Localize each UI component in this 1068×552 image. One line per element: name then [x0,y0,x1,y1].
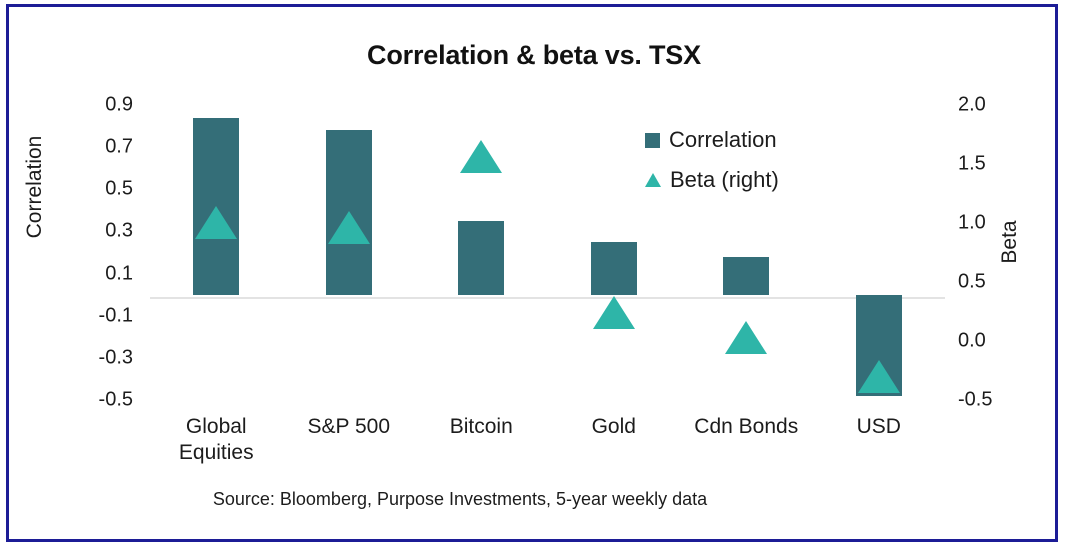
category-label-line: S&P 500 [284,414,414,440]
right-axis-title: Beta [998,192,1022,292]
legend-square-icon [645,133,660,148]
beta-marker-triangle [195,206,237,239]
source-note: Source: Bloomberg, Purpose Investments, … [0,489,920,510]
left-tick-label: -0.5 [63,389,133,412]
correlation-bar [458,221,504,295]
category-label-line: Gold [549,414,679,440]
left-axis-tick-labels: 0.90.70.50.30.1-0.1-0.3-0.5 [48,105,133,400]
category-label-line: Bitcoin [416,414,546,440]
category-label: S&P 500 [284,414,414,440]
category-label-line: Global [151,414,281,440]
correlation-beta-chart: Correlation & beta vs. TSX 0.90.70.50.30… [0,0,1068,552]
left-tick-label: 0.5 [63,178,133,201]
left-tick-label: -0.3 [63,346,133,369]
category-label-line: Cdn Bonds [681,414,811,440]
category-label: Cdn Bonds [681,414,811,440]
legend-item-correlation: Correlation [645,120,779,160]
category-label: USD [814,414,944,440]
beta-marker-triangle [328,211,370,244]
category-label: Bitcoin [416,414,546,440]
zero-baseline [150,297,945,299]
left-axis-title: Correlation [23,107,47,267]
right-tick-label: 0.0 [958,330,1018,353]
right-tick-label: 2.0 [958,94,1018,117]
category-label-line: Equities [151,440,281,466]
right-tick-label: -0.5 [958,389,1018,412]
beta-marker-triangle [858,360,900,393]
right-tick-label: 1.5 [958,153,1018,176]
left-tick-label: 0.1 [63,262,133,285]
left-tick-label: 0.9 [63,94,133,117]
beta-marker-triangle [460,140,502,173]
category-label-line: USD [814,414,944,440]
correlation-bar [591,242,637,295]
category-label: Gold [549,414,679,440]
legend-label-beta: Beta (right) [670,167,779,193]
category-label: GlobalEquities [151,414,281,466]
category-axis-labels: GlobalEquitiesS&P 500BitcoinGoldCdn Bond… [150,414,945,474]
left-tick-label: 0.3 [63,220,133,243]
left-tick-label: -0.1 [63,304,133,327]
chart-legend: Correlation Beta (right) [645,120,779,200]
legend-item-beta: Beta (right) [645,160,779,200]
chart-title: Correlation & beta vs. TSX [0,40,1068,71]
legend-label-correlation: Correlation [669,127,777,153]
beta-marker-triangle [593,296,635,329]
plot-area [150,105,945,400]
correlation-bar [723,257,769,295]
beta-marker-triangle [725,321,767,354]
legend-triangle-icon [645,173,661,187]
left-tick-label: 0.7 [63,136,133,159]
